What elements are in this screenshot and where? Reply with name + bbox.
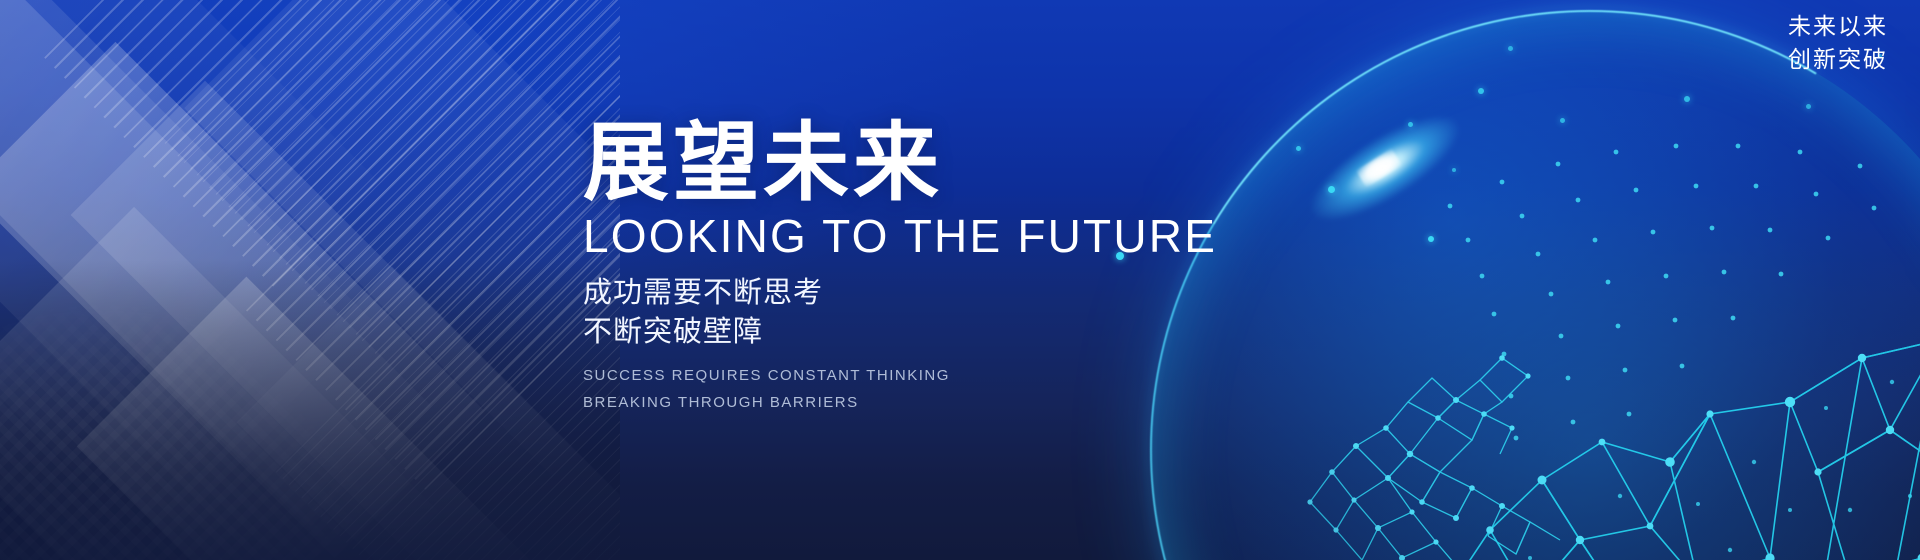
floating-particle: [1684, 96, 1690, 102]
diagonal-ribbon: [0, 207, 438, 560]
globe-sun-flare-core: [1356, 148, 1402, 187]
tagline-english-line1: SUCCESS REQUIRES CONSTANT THINKING: [583, 363, 1223, 389]
diagonal-ribbon: [0, 0, 376, 476]
floating-particle: [1560, 118, 1565, 123]
floating-particle: [1508, 46, 1513, 51]
promo-banner: 展望未来 LOOKING TO THE FUTURE 成功需要不断思考 不断突破…: [0, 0, 1920, 560]
tagline-chinese-line1: 成功需要不断思考: [583, 274, 1223, 313]
left-bottom-fade: [0, 260, 620, 560]
diagonal-hairline-group: [246, 0, 620, 494]
diagonal-ribbon: [0, 0, 373, 498]
diamond-dot-grid: [0, 210, 380, 560]
tagline-chinese: 成功需要不断思考 不断突破壁障: [583, 274, 1223, 351]
tagline-english-line2: BREAKING THROUGH BARRIERS: [583, 390, 1223, 416]
globe-sun-flare: [1297, 98, 1473, 239]
globe-sphere-body: [1150, 10, 1920, 560]
floating-particle: [1428, 236, 1434, 242]
floating-particle: [1296, 146, 1301, 151]
tagline-english: SUCCESS REQUIRES CONSTANT THINKING BREAK…: [583, 363, 1223, 416]
diagonal-hairline-group: [276, 76, 620, 560]
diagonal-ribbon: [184, 0, 620, 476]
globe-wireframe-mesh: [1150, 10, 1920, 560]
tagline-chinese-line2: 不断突破壁障: [583, 313, 1223, 352]
floating-particle: [1408, 122, 1413, 127]
left-geometric-artwork: [0, 0, 620, 560]
corner-tagline: 未来以来 创新突破: [1788, 10, 1888, 75]
network-globe-graphic: [1150, 10, 1920, 560]
diagonal-ribbon: [0, 0, 431, 526]
diagonal-ribbon: [0, 42, 483, 558]
diagonal-hairline-group: [44, 0, 620, 291]
floating-particle: [1452, 168, 1456, 172]
diagonal-ribbon: [77, 277, 544, 560]
headline-subtitle-english: LOOKING TO THE FUTURE: [583, 212, 1223, 260]
floating-particle: [1478, 88, 1484, 94]
corner-tagline-line1: 未来以来: [1788, 10, 1888, 43]
diagonal-hairline-group: [165, 0, 620, 355]
diagonal-ribbon: [237, 267, 620, 560]
diagonal-ribbon: [71, 81, 620, 560]
floating-particle: [1806, 104, 1811, 109]
headline-text-block: 展望未来 LOOKING TO THE FUTURE 成功需要不断思考 不断突破…: [583, 120, 1223, 416]
corner-tagline-line2: 创新突破: [1788, 43, 1888, 76]
floating-particle: [1328, 186, 1335, 193]
page-title: 展望未来: [583, 120, 1223, 206]
